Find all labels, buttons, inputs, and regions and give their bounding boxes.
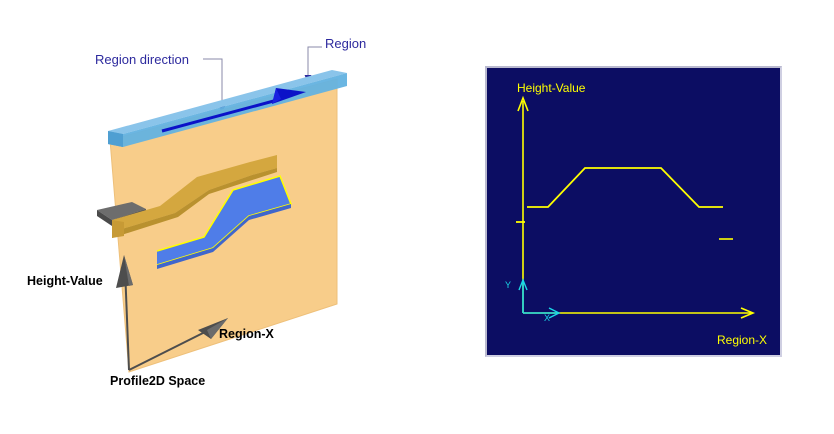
annotation-region: Region (325, 36, 366, 51)
mini-axis-x-label: X (544, 313, 550, 323)
chart-profile-line (527, 168, 723, 207)
mini-axis-widget (519, 280, 559, 318)
axis-label-region-x: Region-X (219, 327, 274, 341)
chart-y-axis-title: Height-Value (517, 81, 585, 95)
profile-chart-plot (487, 68, 780, 355)
chart-x-axis-title: Region-X (717, 333, 767, 347)
mini-axis-y-label: Y (505, 280, 511, 290)
profile-chart-panel: Height-Value Region-X Y X (485, 66, 782, 357)
label-profile2d-space: Profile2D Space (110, 374, 205, 388)
axis-label-height-value: Height-Value (27, 274, 103, 288)
annotation-region-direction: Region direction (95, 52, 189, 67)
screenshot-root: Region direction Region Height-Value Reg… (0, 0, 834, 434)
